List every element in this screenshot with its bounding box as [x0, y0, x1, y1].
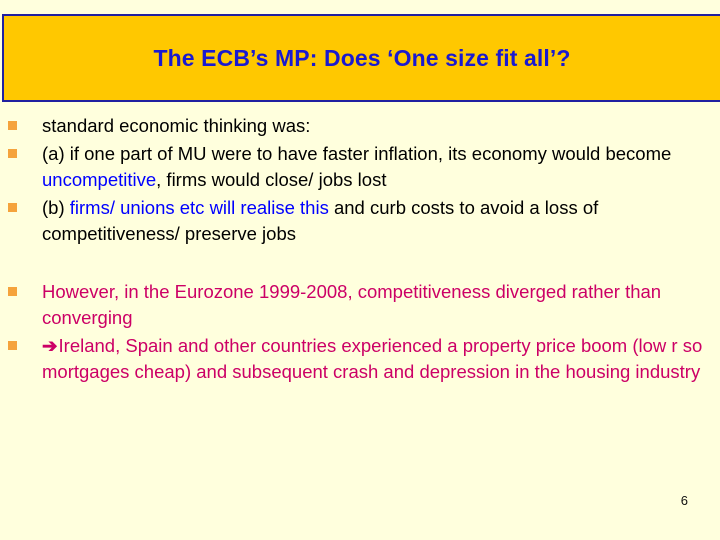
bullet-segment-magenta: Ireland, Spain and other countries exper… [42, 335, 702, 382]
square-bullet-icon [8, 121, 17, 130]
bullet-segment-emphasis-firms-unions: firms/ unions etc will realise this [70, 197, 329, 218]
bullet-segment-plain: standard economic thinking was: [42, 115, 310, 136]
bullet-segment-plain: (b) [42, 197, 70, 218]
bullet-segment-emphasis-uncompetitive: uncompetitive [42, 169, 156, 190]
square-bullet-icon [8, 203, 17, 212]
page-number: 6 [681, 493, 688, 508]
bullet-segment-plain: (a) if one part of MU were to have faste… [42, 143, 671, 164]
bullet-text-however-eurozone: However, in the Eurozone 1999-2008, comp… [42, 279, 708, 331]
blank-line-spacer [0, 249, 720, 279]
bullet-text-standard-thinking: standard economic thinking was: [42, 113, 708, 139]
list-item: ➔Ireland, Spain and other countries expe… [0, 333, 720, 385]
list-item: (b) firms/ unions etc will realise this … [0, 195, 720, 247]
bullet-segment-magenta: However, in the Eurozone 1999-2008, comp… [42, 281, 661, 328]
bullet-text-ireland-spain-property: ➔Ireland, Spain and other countries expe… [42, 333, 708, 385]
square-bullet-icon [8, 341, 17, 350]
square-bullet-icon [8, 149, 17, 158]
bullet-text-faster-inflation: (a) if one part of MU were to have faste… [42, 141, 708, 193]
slide-body: standard economic thinking was: (a) if o… [0, 113, 720, 493]
list-item: standard economic thinking was: [0, 113, 720, 139]
square-bullet-icon [8, 287, 17, 296]
slide-title-box: The ECB’s MP: Does ‘One size fit all’? [2, 14, 720, 102]
bullet-segment-plain-tail: , firms would close/ jobs lost [156, 169, 386, 190]
page-title: The ECB’s MP: Does ‘One size fit all’? [153, 45, 570, 71]
list-item: (a) if one part of MU were to have faste… [0, 141, 720, 193]
bullet-text-firms-unions: (b) firms/ unions etc will realise this … [42, 195, 708, 247]
list-item: However, in the Eurozone 1999-2008, comp… [0, 279, 720, 331]
right-arrow-icon: ➔ [42, 335, 58, 356]
